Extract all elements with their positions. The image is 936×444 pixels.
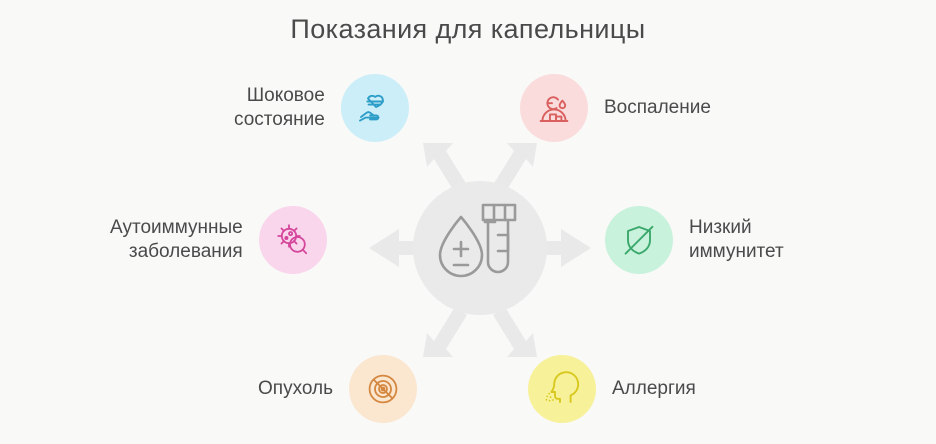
arrow-down-right	[493, 307, 537, 357]
node-immunity-label: Низкий иммунитет	[673, 216, 784, 265]
virus-magnifier-icon	[273, 220, 313, 260]
central-hub	[355, 125, 605, 375]
node-autoimmune[interactable]: Аутоиммунные заболевания	[110, 206, 327, 274]
sneezing-head-icon	[542, 369, 582, 409]
node-allergy[interactable]: Аллергия	[528, 355, 696, 423]
node-immunity[interactable]: Низкий иммунитет	[605, 206, 784, 274]
node-tumor-label: Опухоль	[258, 377, 349, 401]
node-immunity-bubble	[605, 206, 673, 274]
node-tumor[interactable]: Опухоль	[258, 355, 417, 423]
node-inflammation-label: Воспаление	[588, 96, 711, 120]
node-allergy-bubble	[528, 355, 596, 423]
person-fever-icon	[534, 88, 574, 128]
node-autoimmune-bubble	[259, 206, 327, 274]
node-allergy-label: Аллергия	[596, 377, 696, 401]
crossed-shield-icon	[619, 220, 659, 260]
crossed-tumor-cell-icon	[363, 369, 403, 409]
arrow-down-left	[423, 307, 467, 357]
node-shock-bubble	[341, 74, 409, 142]
page-title: Показания для капельницы	[0, 14, 936, 45]
node-inflammation[interactable]: Воспаление	[520, 74, 711, 142]
node-shock-label: Шоковое состояние	[234, 84, 341, 133]
node-shock[interactable]: Шоковое состояние	[234, 74, 409, 142]
node-autoimmune-label: Аутоиммунные заболевания	[110, 216, 259, 265]
node-tumor-bubble	[349, 355, 417, 423]
node-inflammation-bubble	[520, 74, 588, 142]
infographic-root: Показания для капельницы	[0, 0, 936, 444]
heart-in-hand-icon	[355, 88, 395, 128]
